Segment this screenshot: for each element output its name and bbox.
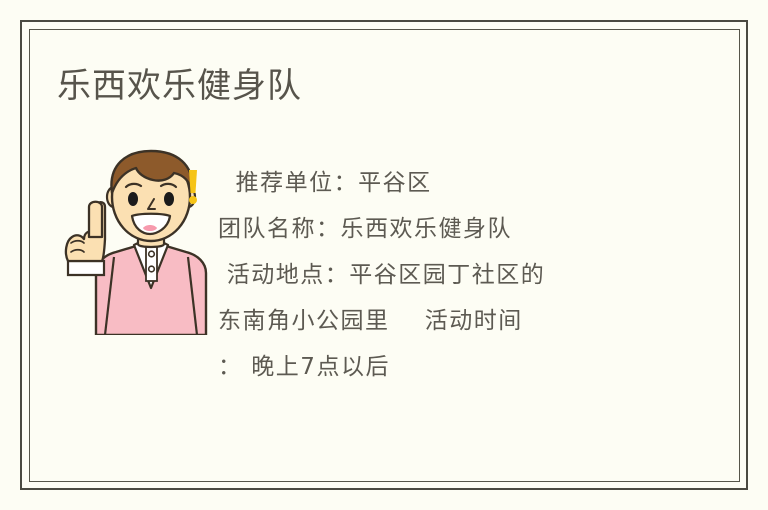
exclamation-dot: [189, 196, 197, 204]
shirt-placket: [146, 245, 157, 281]
shirt-button-top: [149, 251, 155, 257]
eye-right: [164, 192, 174, 206]
sleeve-cuff: [68, 261, 104, 275]
article-line-4: 东南角小公园里 活动时间: [218, 298, 658, 344]
article-line-2: 团队名称：乐西欢乐健身队: [218, 206, 658, 252]
boy-pointing-icon: [58, 145, 224, 335]
boy-pointing-illustration: [58, 145, 224, 335]
article-body: 推荐单位：平谷区 团队名称：乐西欢乐健身队 活动地点：平谷区园丁社区的 东南角小…: [218, 160, 658, 390]
shirt-button-bottom: [149, 266, 155, 272]
article-line-3: 活动地点：平谷区园丁社区的: [218, 252, 658, 298]
index-finger: [89, 202, 102, 237]
page-title: 乐西欢乐健身队: [57, 62, 302, 110]
article-line-5: ： 晚上7点以后: [218, 344, 658, 390]
article-line-1: 推荐单位：平谷区: [218, 160, 658, 206]
eye-left: [128, 192, 138, 206]
